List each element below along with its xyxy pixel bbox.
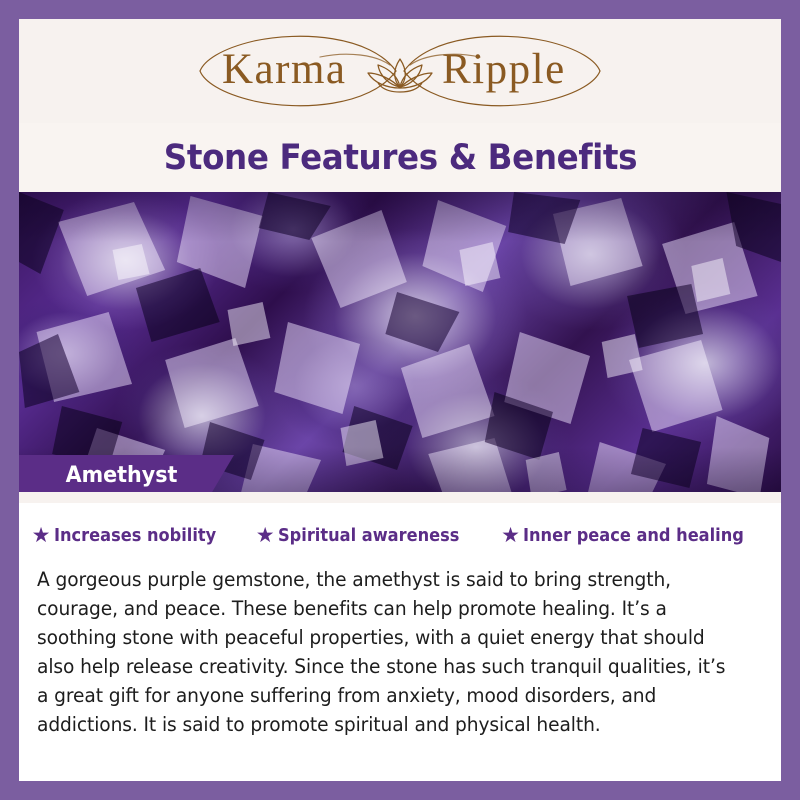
benefit-item: ★ Inner peace and healing xyxy=(501,525,768,546)
brand-name-second: Ripple xyxy=(442,47,566,93)
stone-name-banner: Amethyst xyxy=(19,455,234,495)
benefit-item: ★ Spiritual awareness xyxy=(256,525,479,546)
brand-header: Karma Ripple xyxy=(19,19,781,123)
stone-name-label: Amethyst xyxy=(66,463,178,488)
content-panel: ★ Increases nobility ★ Spiritual awarene… xyxy=(19,503,781,781)
product-infographic: Karma Ripple Stone Features & Benefits xyxy=(0,0,800,800)
star-icon: ★ xyxy=(256,525,275,546)
card-inner: Karma Ripple Stone Features & Benefits xyxy=(19,19,781,781)
star-icon: ★ xyxy=(32,525,51,546)
page-title: Stone Features & Benefits xyxy=(163,138,636,178)
benefit-label: Increases nobility xyxy=(54,525,216,546)
lotus-icon xyxy=(368,59,432,92)
panel-top-strip xyxy=(19,492,781,503)
brand-name-first: Karma xyxy=(222,47,347,93)
benefit-item: ★ Increases nobility xyxy=(32,525,234,546)
benefit-label: Inner peace and healing xyxy=(523,525,744,546)
headline-band: Stone Features & Benefits xyxy=(19,123,781,193)
benefit-label: Spiritual awareness xyxy=(278,525,459,546)
brand-lockup: Karma Ripple xyxy=(180,25,620,117)
star-icon: ★ xyxy=(501,525,520,546)
stone-description: A gorgeous purple gemstone, the amethyst… xyxy=(37,565,732,739)
benefits-list: ★ Increases nobility ★ Spiritual awarene… xyxy=(19,525,781,546)
